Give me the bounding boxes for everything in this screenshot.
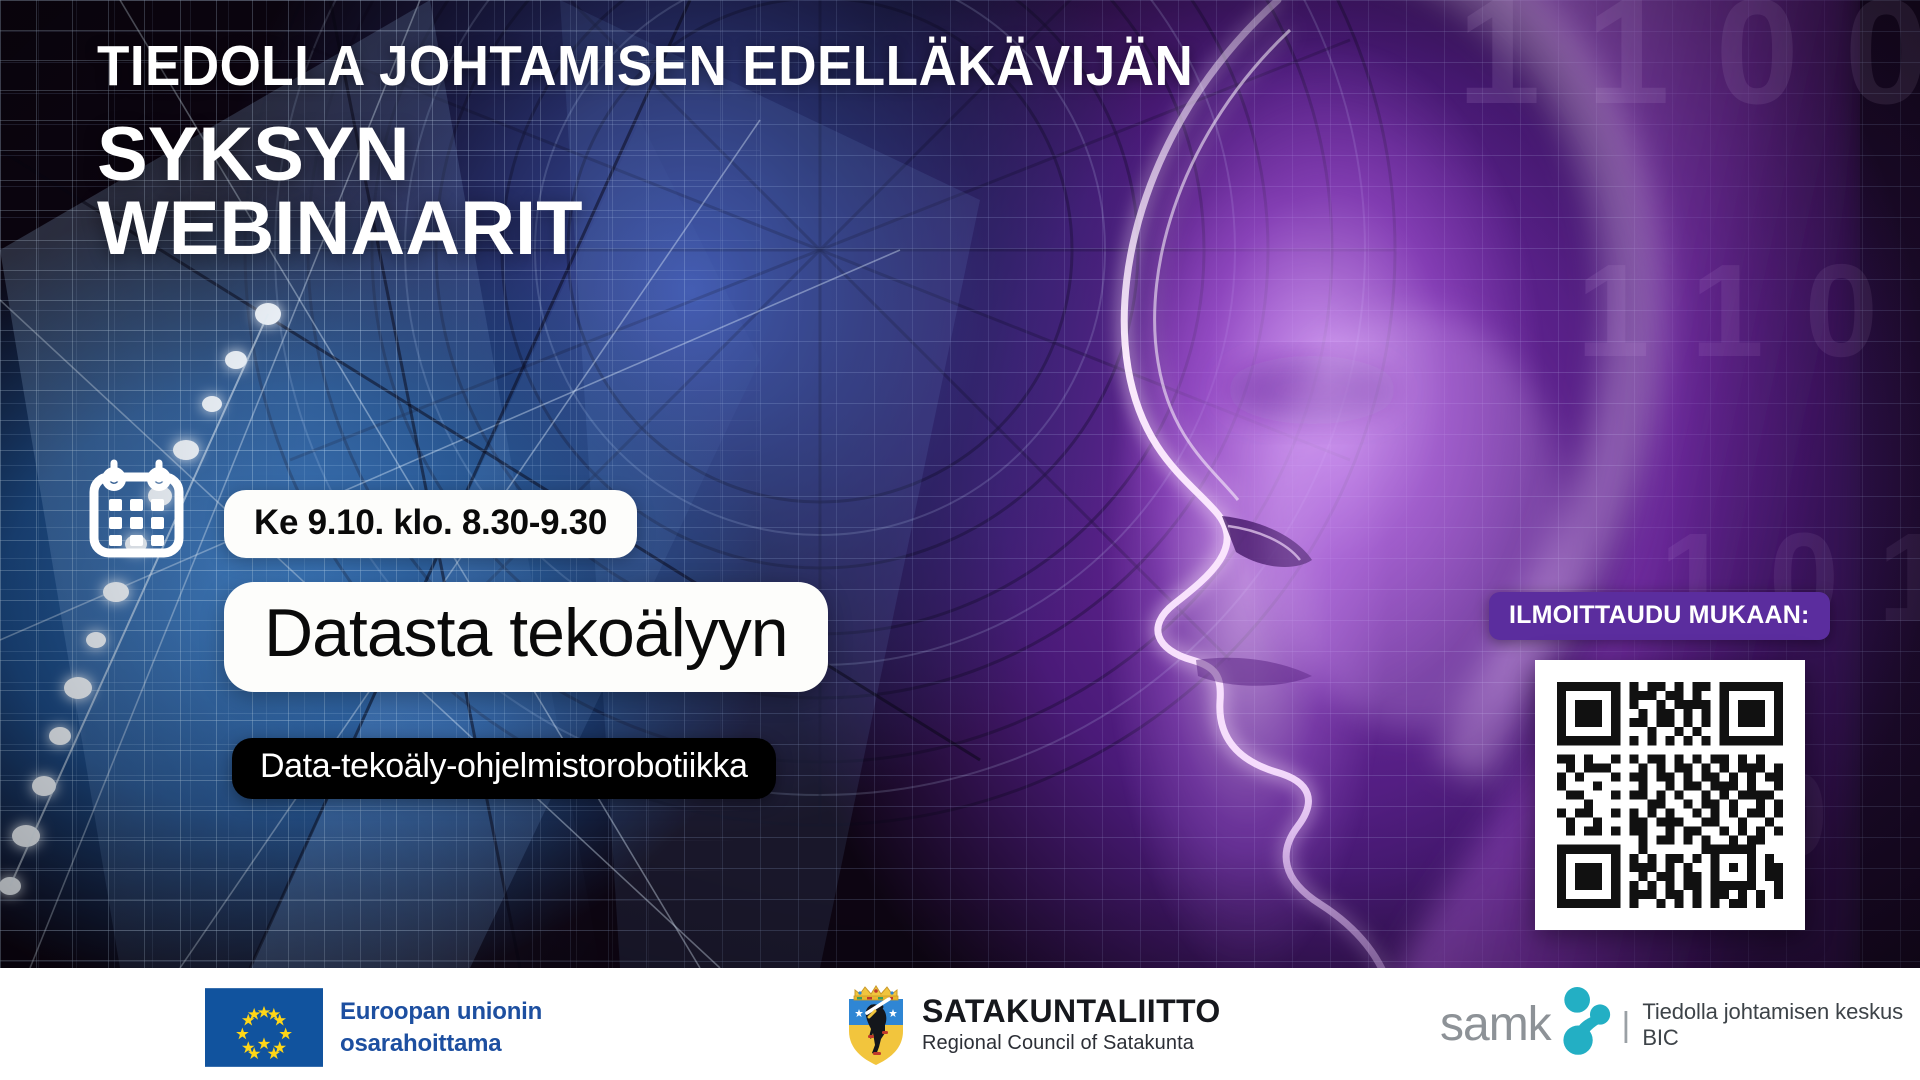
samk-wordmark: samk bbox=[1440, 1001, 1551, 1049]
hero-artwork: 1 1 0 0 1 1 0 1 0 1 0 1 0 bbox=[0, 0, 1920, 968]
satakuntaliitto-subtitle: Regional Council of Satakunta bbox=[922, 1032, 1221, 1055]
date-time-badge: Ke 9.10. klo. 8.30-9.30 bbox=[224, 490, 637, 558]
webinar-title-badge: Datasta tekoälyyn bbox=[224, 582, 828, 692]
banner-canvas: 1 1 0 0 1 1 0 1 0 1 0 1 0 bbox=[0, 0, 1920, 1080]
register-cta-label: ILMOITTAUDU MUKAAN: bbox=[1489, 592, 1830, 640]
samk-tagline: Tiedolla johtamisen keskus BIC bbox=[1642, 999, 1920, 1051]
kicker-heading: TIEDOLLA JOHTAMISEN EDELLÄKÄVIJÄN bbox=[97, 38, 1193, 95]
eu-logo-text: Euroopan unionin osarahoittama bbox=[340, 996, 542, 1058]
main-heading: SYKSYN WEBINAARIT bbox=[97, 118, 583, 265]
main-heading-line-2: WEBINAARIT bbox=[97, 192, 583, 266]
qr-code[interactable] bbox=[1535, 660, 1805, 930]
binary-row: 1 1 0 0 bbox=[1457, 0, 1920, 120]
webinar-topics-badge: Data-tekoäly-ohjelmistorobotiikka bbox=[232, 738, 776, 799]
samk-divider: | bbox=[1621, 1006, 1630, 1045]
satakuntaliitto-title: SATAKUNTALIITTO bbox=[922, 995, 1221, 1029]
satakuntaliitto-logo-text: SATAKUNTALIITTO Regional Council of Sata… bbox=[922, 995, 1221, 1055]
binary-row: 1 1 0 bbox=[1576, 250, 1880, 371]
satakunta-coat-of-arms-icon bbox=[845, 983, 907, 1067]
calendar-icon bbox=[84, 455, 189, 560]
samk-logo: samk | Tiedolla johtamisen keskus BIC bbox=[1440, 992, 1920, 1058]
main-heading-line-1: SYKSYN bbox=[97, 118, 583, 192]
eu-flag-icon bbox=[205, 988, 323, 1067]
samk-molecule-icon bbox=[1557, 982, 1614, 1058]
footer-logo-strip: Euroopan unionin osarahoittama bbox=[0, 968, 1920, 1080]
eu-logo-line-2: osarahoittama bbox=[340, 1028, 542, 1059]
satakuntaliitto-logo: SATAKUNTALIITTO Regional Council of Sata… bbox=[845, 983, 1221, 1067]
eu-logo-line-1: Euroopan unionin bbox=[340, 996, 542, 1027]
eu-cofunding-logo: Euroopan unionin osarahoittama bbox=[205, 988, 542, 1067]
